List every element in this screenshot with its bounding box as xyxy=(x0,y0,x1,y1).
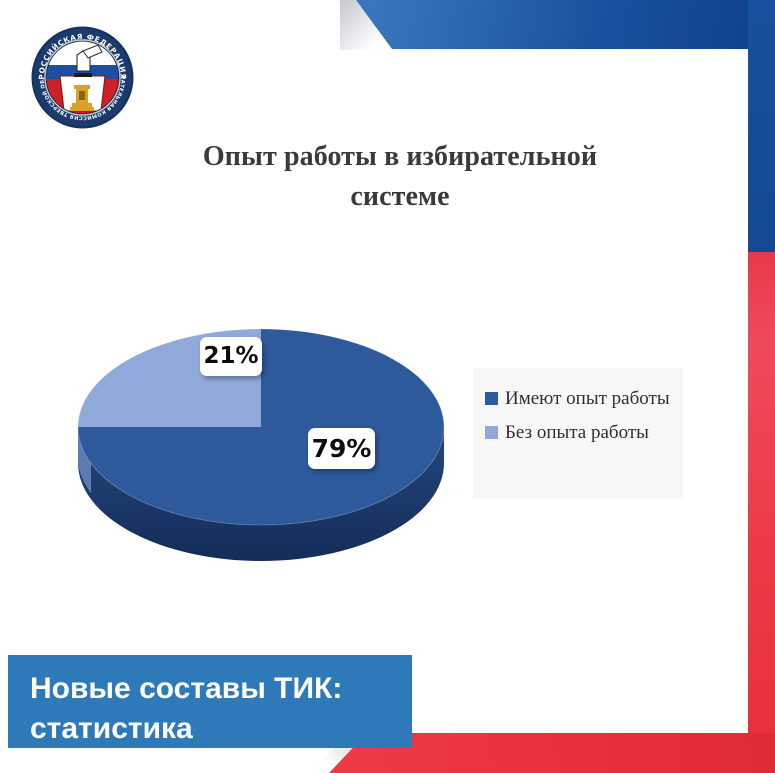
chart-legend: Имеют опыт работы Без опыта работы xyxy=(473,368,683,499)
legend-item-0: Имеют опыт работы xyxy=(485,386,673,411)
emblem-icon: РОССИЙСКАЯ ФЕДЕРАЦИЯ ИЗБИРАТЕЛЬНАЯ КОМИС… xyxy=(30,25,135,130)
legend-label: Без опыта работы xyxy=(505,420,649,445)
poster-root: РОССИЙСКАЯ ФЕДЕРАЦИЯ ИЗБИРАТЕЛЬНАЯ КОМИС… xyxy=(0,0,775,773)
top-band-shadow xyxy=(340,0,420,52)
pie-graphic: 21% 79% xyxy=(65,265,465,565)
legend-item-1: Без опыта работы xyxy=(485,420,673,445)
banner-line-1: Новые составы ТИК: xyxy=(30,669,412,709)
bottom-banner: Новые составы ТИК: статистика xyxy=(8,655,412,748)
pie-label-21: 21% xyxy=(200,337,262,376)
legend-label: Имеют опыт работы xyxy=(505,386,670,411)
banner-line-2: статистика xyxy=(30,709,412,749)
right-edge-red-strip xyxy=(748,252,775,752)
top-right-blue-band xyxy=(340,0,775,50)
pie-chart: 21% 79% Имеют опыт работы Без опыта рабо… xyxy=(40,265,700,575)
chart-title: Опыт работы в избирательной системе xyxy=(150,137,650,217)
pie-label-79: 79% xyxy=(308,428,375,469)
right-edge-blue-strip xyxy=(748,0,775,253)
legend-swatch-icon xyxy=(485,426,498,439)
legend-swatch-icon xyxy=(485,392,498,405)
